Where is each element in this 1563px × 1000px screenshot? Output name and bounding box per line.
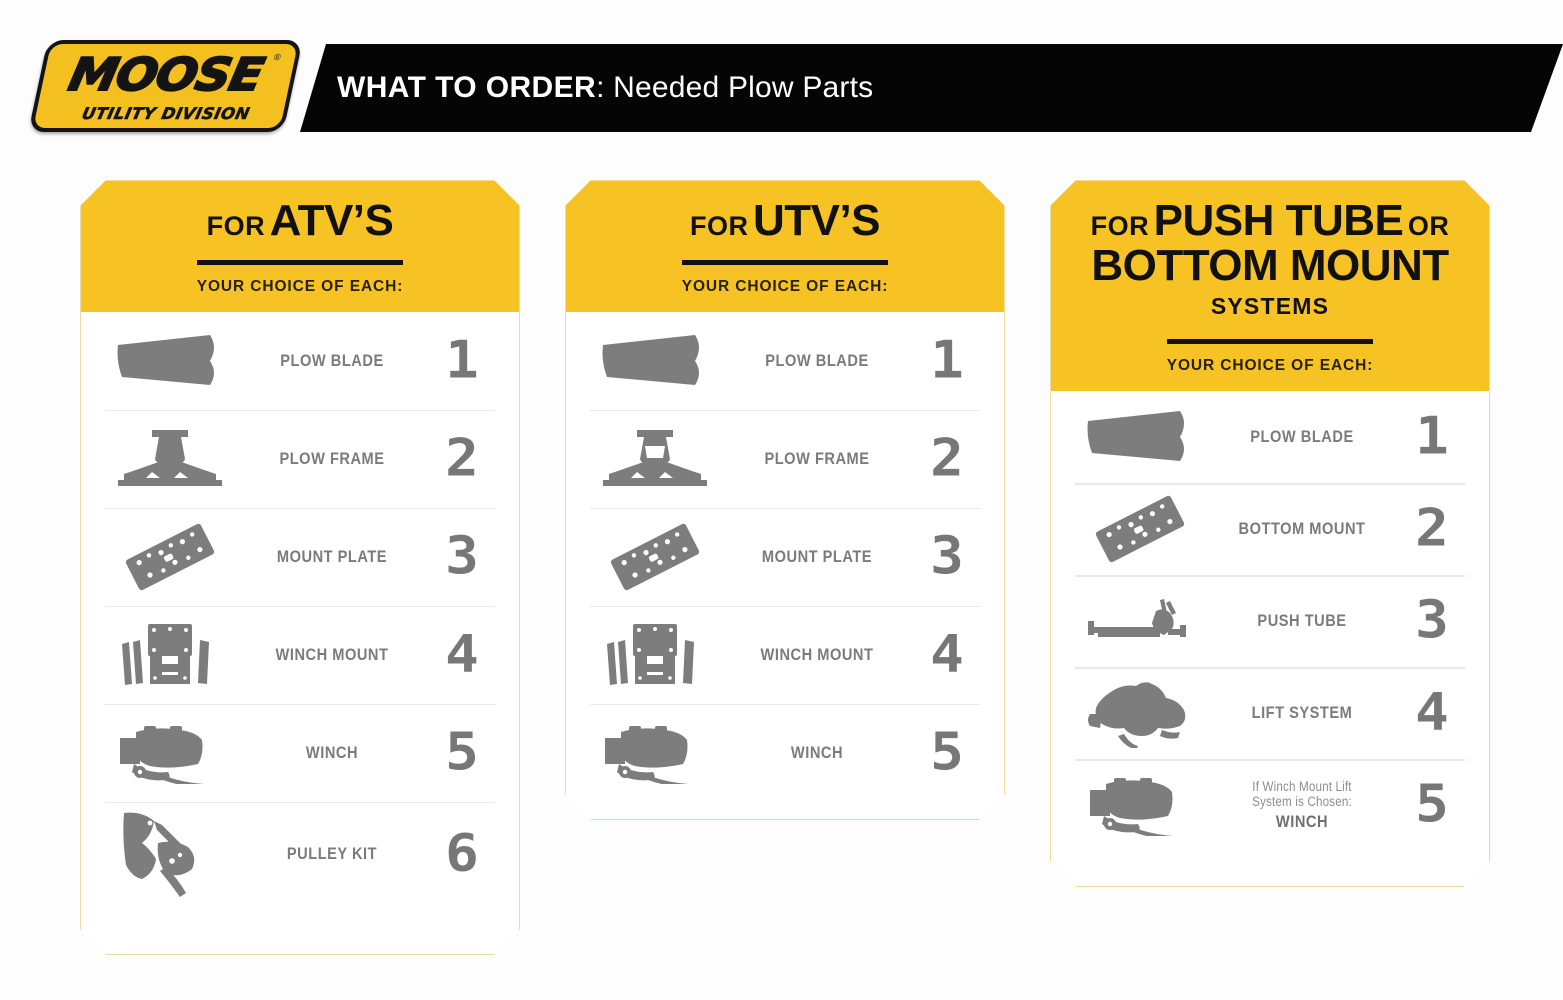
row-number: 1	[904, 335, 990, 387]
row-label: WINCH	[257, 743, 407, 763]
table-row[interactable]: MOUNT PLATE 3	[566, 508, 1004, 606]
mount-plate-icon	[95, 522, 245, 592]
row-label: PLOW BLADE	[1227, 427, 1377, 447]
row-number: 3	[904, 531, 990, 583]
card-push-tube-title-line2: BOTTOM MOUNT	[1051, 244, 1489, 289]
card-push-tube-title-line3: SYSTEMS	[1051, 289, 1489, 324]
row-label: PLOW FRAME	[742, 449, 892, 469]
pulley-kit-icon	[95, 809, 245, 899]
page-title-strong: WHAT TO ORDER	[337, 71, 596, 104]
row-label: PLOW FRAME	[257, 449, 407, 469]
table-row[interactable]: PUSH TUBE 3	[1051, 575, 1489, 667]
winch-icon	[580, 722, 730, 784]
row-note-line2: System is Chosen:	[1227, 794, 1377, 809]
table-row[interactable]: WINCH 5	[566, 704, 1004, 802]
row-number: 6	[419, 828, 505, 880]
plow-blade-icon	[580, 333, 730, 389]
card-utv-divider	[682, 260, 888, 265]
page-title-rest: : Needed Plow Parts	[596, 71, 873, 104]
row-number: 4	[904, 629, 990, 681]
table-row[interactable]: BOTTOM MOUNT 2	[1051, 483, 1489, 575]
card-push-tube-divider	[1167, 339, 1373, 344]
row-number: 5	[1389, 779, 1475, 831]
row-number: 2	[904, 433, 990, 485]
row-number: 4	[419, 629, 505, 681]
infographic-page: MOOSE UTILITY DIVISION ® WHAT TO ORDER: …	[0, 0, 1563, 1000]
title-banner: WHAT TO ORDER: Needed Plow Parts	[300, 44, 1563, 132]
row-label: WINCH	[1227, 812, 1377, 832]
winch-icon	[1065, 774, 1215, 836]
table-row[interactable]: PLOW BLADE 1	[566, 312, 1004, 410]
card-push-tube-choice-label: YOUR CHOICE OF EACH:	[1051, 357, 1489, 375]
row-label: PUSH TUBE	[1227, 611, 1377, 631]
table-row[interactable]: PULLEY KIT 6	[81, 802, 519, 906]
row-number: 2	[1389, 503, 1475, 555]
row-number: 2	[419, 433, 505, 485]
table-row[interactable]: PLOW FRAME 2	[81, 410, 519, 508]
table-row[interactable]: PLOW FRAME 2	[566, 410, 1004, 508]
row-number: 3	[1389, 595, 1475, 647]
table-row[interactable]: WINCH MOUNT 4	[81, 606, 519, 704]
row-number: 3	[419, 531, 505, 583]
row-label: WINCH MOUNT	[257, 645, 407, 665]
row-label: PLOW BLADE	[257, 351, 407, 371]
row-number: 5	[904, 727, 990, 779]
logo-wordmark: MOOSE	[64, 48, 267, 101]
row-label: MOUNT PLATE	[742, 547, 892, 567]
table-row[interactable]: LIFT SYSTEM 4	[1051, 667, 1489, 759]
row-label: PLOW BLADE	[742, 351, 892, 371]
winch-mount-icon	[95, 620, 245, 690]
card-atv: FOR ATV’S YOUR CHOICE OF EACH: PLOW BLAD…	[80, 180, 520, 955]
card-push-tube: FOR PUSH TUBE OR BOTTOM MOUNT SYSTEMS YO…	[1050, 180, 1490, 887]
page-title: WHAT TO ORDER: Needed Plow Parts	[337, 71, 873, 105]
mount-plate-icon	[580, 522, 730, 592]
row-number: 4	[1389, 687, 1475, 739]
row-label: WINCH	[742, 743, 892, 763]
card-utv-header: FOR UTV’S YOUR CHOICE OF EACH:	[566, 181, 1004, 312]
card-atv-divider	[197, 260, 403, 265]
row-label: MOUNT PLATE	[257, 547, 407, 567]
table-row[interactable]: If Winch Mount Lift System is Chosen: WI…	[1051, 759, 1489, 851]
bottom-mount-icon	[1065, 494, 1215, 564]
winch-icon	[95, 722, 245, 784]
push-tube-icon	[1065, 593, 1215, 649]
card-push-tube-title: FOR PUSH TUBE OR	[1051, 199, 1489, 244]
logo-tagline: UTILITY DIVISION	[80, 104, 251, 123]
row-number: 1	[1389, 411, 1475, 463]
moose-logo: MOOSE UTILITY DIVISION ®	[28, 40, 303, 132]
card-push-tube-header: FOR PUSH TUBE OR BOTTOM MOUNT SYSTEMS YO…	[1051, 181, 1489, 391]
row-label-with-note: If Winch Mount Lift System is Chosen: WI…	[1227, 779, 1377, 832]
card-utv-rows: PLOW BLADE 1 PLOW FRAME 2	[566, 312, 1004, 808]
row-note-line1: If Winch Mount Lift	[1227, 779, 1377, 794]
row-number: 5	[419, 727, 505, 779]
card-push-tube-title-or: OR	[1408, 211, 1450, 241]
plow-blade-icon	[95, 333, 245, 389]
card-utv-title-main: UTV’S	[753, 196, 880, 245]
table-row[interactable]: PLOW BLADE 1	[1051, 391, 1489, 483]
card-utv-title: FOR UTV’S	[566, 199, 1004, 244]
card-atv-title: FOR ATV’S	[81, 199, 519, 244]
row-number: 1	[419, 335, 505, 387]
winch-mount-icon	[580, 620, 730, 690]
table-row[interactable]: PLOW BLADE 1	[81, 312, 519, 410]
table-row[interactable]: MOUNT PLATE 3	[81, 508, 519, 606]
card-utv-title-prefix: FOR	[690, 211, 749, 241]
card-atv-title-prefix: FOR	[207, 211, 266, 241]
card-push-tube-title-main: PUSH TUBE	[1154, 196, 1404, 245]
table-row[interactable]: WINCH 5	[81, 704, 519, 802]
card-push-tube-rows: PLOW BLADE 1	[1051, 391, 1489, 857]
plow-blade-icon	[1065, 409, 1215, 465]
card-utv-choice-label: YOUR CHOICE OF EACH:	[566, 278, 1004, 296]
card-push-tube-title-prefix: FOR	[1091, 211, 1150, 241]
plow-frame-icon	[95, 428, 245, 490]
card-atv-choice-label: YOUR CHOICE OF EACH:	[81, 278, 519, 296]
lift-system-icon	[1065, 678, 1215, 748]
row-label: WINCH MOUNT	[742, 645, 892, 665]
card-atv-header: FOR ATV’S YOUR CHOICE OF EACH:	[81, 181, 519, 312]
row-label: PULLEY KIT	[257, 844, 407, 864]
card-atv-rows: PLOW BLADE 1 PLOW FRAME 2	[81, 312, 519, 912]
table-row[interactable]: WINCH MOUNT 4	[566, 606, 1004, 704]
card-utv: FOR UTV’S YOUR CHOICE OF EACH: PLOW BLAD…	[565, 180, 1005, 820]
row-label: LIFT SYSTEM	[1227, 703, 1377, 723]
plow-frame-icon	[580, 428, 730, 490]
page-header: MOOSE UTILITY DIVISION ® WHAT TO ORDER: …	[0, 0, 1563, 150]
card-atv-title-main: ATV’S	[270, 196, 394, 245]
row-label: BOTTOM MOUNT	[1227, 519, 1377, 539]
registered-mark-icon: ®	[273, 52, 282, 62]
